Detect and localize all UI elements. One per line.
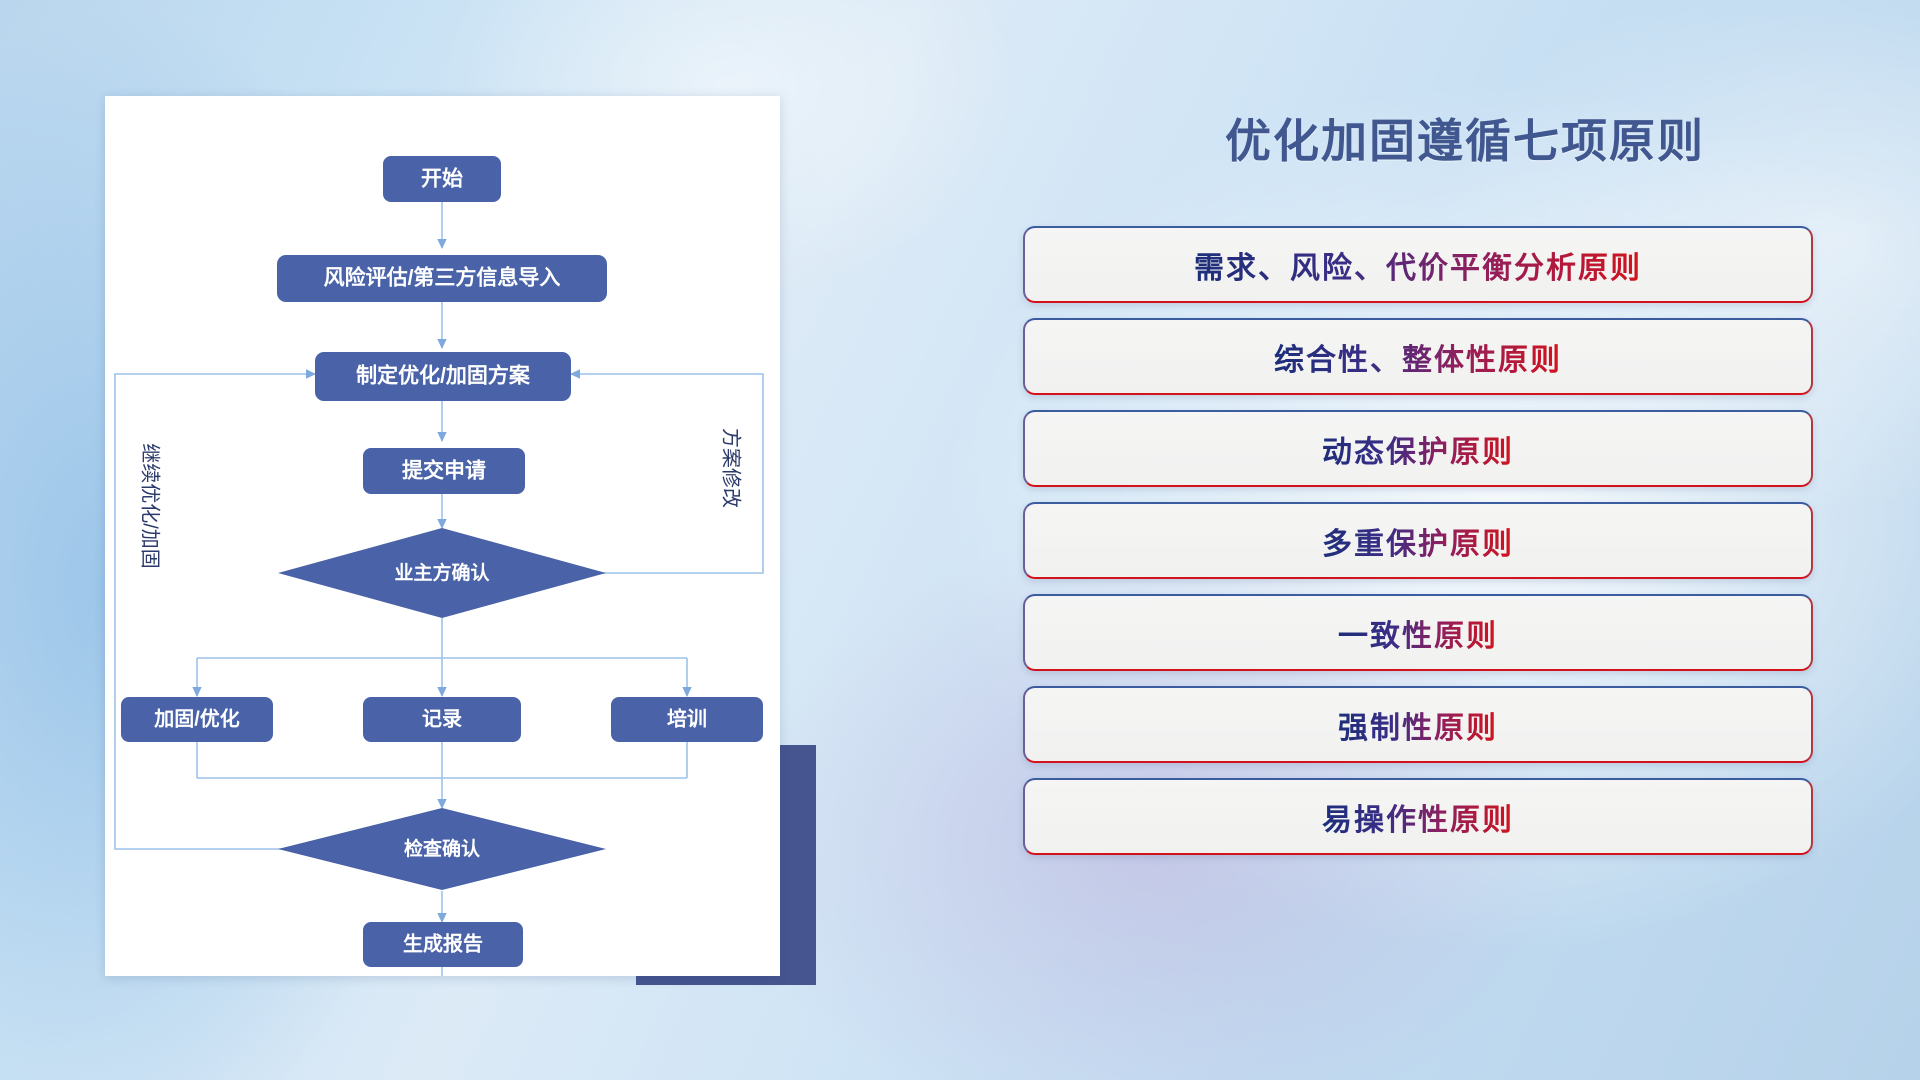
- flow-node-record[interactable]: 记录: [363, 697, 521, 742]
- flowchart-card: 开始 风险评估/第三方信息导入 制定优化/加固方案 提交申请 业主方确认: [105, 96, 780, 976]
- flow-node-check-confirm[interactable]: 检查确认: [278, 808, 606, 890]
- flow-node-report[interactable]: 生成报告: [363, 922, 523, 967]
- principle-card-6[interactable]: 强制性原则: [1023, 686, 1813, 763]
- principle-card-3-label: 动态保护原则: [1322, 427, 1514, 471]
- flow-node-plan-label: 制定优化/加固方案: [356, 364, 531, 388]
- flow-node-start[interactable]: 开始: [383, 156, 501, 202]
- flow-node-reinforce-label: 加固/优化: [153, 706, 240, 730]
- flow-node-reinforce[interactable]: 加固/优化: [121, 697, 273, 742]
- flow-node-owner-confirm[interactable]: 业主方确认: [278, 528, 606, 618]
- principle-card-5-label: 一致性原则: [1338, 611, 1498, 655]
- flow-node-start-label: 开始: [421, 167, 463, 191]
- flow-node-risk-assessment[interactable]: 风险评估/第三方信息导入: [277, 255, 607, 302]
- principle-card-4-label: 多重保护原则: [1322, 519, 1514, 563]
- principles-list: 需求、风险、代价平衡分析原则 综合性、整体性原则 动态保护原则 多重保护原则 一…: [1023, 226, 1813, 870]
- principle-card-7-label: 易操作性原则: [1322, 795, 1514, 839]
- flow-node-record-label: 记录: [422, 707, 462, 730]
- principle-card-2-label: 综合性、整体性原则: [1274, 335, 1562, 379]
- flow-node-report-label: 生成报告: [403, 931, 483, 955]
- flow-node-check-confirm-label: 检查确认: [404, 837, 480, 860]
- edge-label-plan-revision-text: 方案修改: [720, 428, 743, 508]
- principle-card-7[interactable]: 易操作性原则: [1023, 778, 1813, 855]
- principle-card-2[interactable]: 综合性、整体性原则: [1023, 318, 1813, 395]
- principles-panel: 优化加固遵循七项原则 需求、风险、代价平衡分析原则 综合性、整体性原则 动态保护…: [1010, 0, 1920, 1080]
- flow-node-risk-assessment-label: 风险评估/第三方信息导入: [324, 266, 561, 290]
- edge-label-plan-revision: 方案修改: [720, 428, 743, 508]
- principle-card-4[interactable]: 多重保护原则: [1023, 502, 1813, 579]
- principle-card-6-label: 强制性原则: [1338, 703, 1498, 747]
- edge-label-continue-optimize-text: 继续优化/加固: [139, 443, 162, 569]
- edge-label-continue-optimize: 继续优化/加固: [139, 443, 162, 569]
- flowchart-panel: 开始 风险评估/第三方信息导入 制定优化/加固方案 提交申请 业主方确认: [0, 0, 840, 1080]
- flow-node-owner-confirm-label: 业主方确认: [394, 561, 489, 584]
- flowchart-diagram: 开始 风险评估/第三方信息导入 制定优化/加固方案 提交申请 业主方确认: [105, 96, 780, 976]
- principles-title: 优化加固遵循七项原则: [1010, 105, 1920, 171]
- principle-card-5[interactable]: 一致性原则: [1023, 594, 1813, 671]
- flow-node-plan[interactable]: 制定优化/加固方案: [315, 352, 571, 401]
- principle-card-1-label: 需求、风险、代价平衡分析原则: [1194, 243, 1642, 287]
- flow-node-training[interactable]: 培训: [611, 697, 763, 742]
- principle-card-1[interactable]: 需求、风险、代价平衡分析原则: [1023, 226, 1813, 303]
- flow-node-submit[interactable]: 提交申请: [363, 448, 525, 494]
- flow-node-training-label: 培训: [667, 706, 707, 730]
- principle-card-3[interactable]: 动态保护原则: [1023, 410, 1813, 487]
- flow-node-submit-label: 提交申请: [402, 459, 486, 483]
